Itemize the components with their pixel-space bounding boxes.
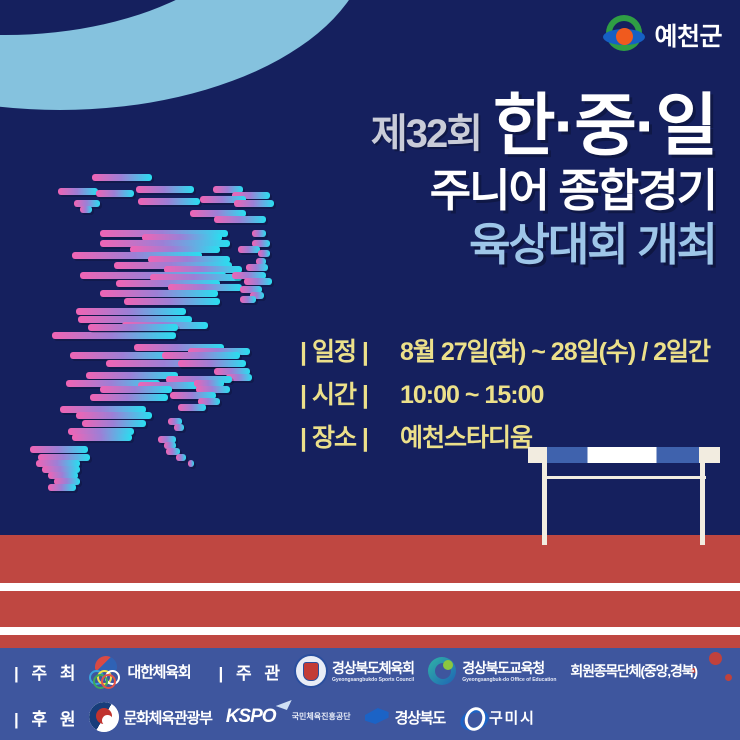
header-logo: 예천군 [603, 14, 722, 56]
title-block: 제32회 한·중·일 주니어 종합경기 육상대회 개최 [371, 92, 716, 271]
gyeongbuk-sports-council-shield-icon [294, 654, 328, 688]
footer-label-korean-sport-olympic-committee: 대한체육회 [127, 661, 190, 682]
korean-sport-olympic-committee-logo-icon [89, 656, 123, 686]
footer-label-ministry-culture-sports-tourism: 문화체육관광부 [123, 707, 211, 728]
footer-label-member-associations: 회원종목단체(중앙,경북) [570, 661, 696, 681]
running-athlete-silhouette-icon [28, 168, 308, 538]
gumi-city-logo-icon [459, 706, 485, 728]
runner-stripe [88, 324, 178, 331]
runner-stripe [100, 290, 218, 297]
runner-stripe [80, 206, 92, 213]
runner-stripe [258, 250, 270, 257]
gyeongbuk-office-of-education-logo-icon [428, 657, 458, 685]
korea-government-taeguk-emblem-icon [89, 702, 119, 732]
footer-label-gyeongbuk-sports-council: 경상북도체육회 [332, 660, 414, 676]
footer-label-member-associations-wrap: 회원종목단체(중앙,경북) [570, 661, 696, 681]
runner-stripe [246, 264, 268, 271]
header-org-name: 예천군 [654, 17, 722, 53]
kspo-logo-icon: KSPO [226, 706, 288, 728]
runner-stripe [214, 216, 266, 223]
track-band-red-2 [0, 591, 740, 627]
runner-stripe [252, 230, 266, 237]
event-poster: 예천군 제32회 한·중·일 주니어 종합경기 육상대회 개최 | 일정 | 8… [0, 0, 740, 740]
runner-stripe [100, 386, 172, 393]
footer-tag-sponsor: | 후 원 [14, 705, 79, 730]
detail-value-venue: 예천스타디움 [400, 418, 532, 454]
runner-stripe [238, 246, 260, 253]
footer-logo-gumi-city: 구 미 시 [459, 706, 533, 728]
detail-value-schedule: 8월 27일(화) ~ 28일(수) / 2일간 [400, 332, 710, 368]
title-event-line: 육상대회 개최 [371, 220, 716, 270]
footer-logo-ministry-culture-sports-tourism: 문화체육관광부 [89, 702, 211, 732]
title-ordinal: 제32회 [371, 114, 481, 160]
runner-stripe [76, 412, 152, 419]
detail-row-schedule: | 일정 | 8월 27일(화) ~ 28일(수) / 2일간 [300, 332, 710, 368]
track-lane-line-2 [0, 627, 740, 635]
sponsor-footer: | 주 최 대한체육회 | 주 관 경상북도체육회 Gyeongsangbukd… [0, 648, 740, 740]
footer-sublabel-kspo: 국민체육진흥공단 [292, 713, 351, 722]
runner-stripe [124, 298, 220, 305]
runner-stripe [162, 352, 240, 359]
footer-sublabel-gyeongbuk-sports-council: Gyeongsangbukdo Sports Council [332, 678, 414, 684]
runner-stripe [174, 424, 184, 431]
detail-label-time: | 시간 | [300, 375, 396, 411]
track-band-red-3 [0, 635, 740, 648]
gyeongsangbukdo-wave-logo-icon [365, 706, 391, 728]
runner-stripe [244, 278, 272, 285]
detail-value-time: 10:00 ~ 15:00 [400, 381, 543, 410]
event-details: | 일정 | 8월 27일(화) ~ 28일(수) / 2일간 | 시간 | 1… [300, 332, 710, 461]
footer-label-gyeongbuk-office-of-education: 경상북도교육청 [462, 660, 544, 676]
runner-stripe [176, 454, 186, 461]
detail-label-venue: | 장소 | [300, 418, 396, 454]
footer-logo-gyeongbuk-office-of-education: 경상북도교육청 Gyeongsangbuk-do Office of Educa… [428, 657, 556, 685]
track-hurdle-icon [528, 447, 720, 547]
footer-logo-kspo: KSPO 국민체육진흥공단 [226, 706, 351, 728]
footer-logo-gyeongsangbukdo: 경상북도 [365, 706, 445, 728]
title-main: 한·중·일 [493, 92, 716, 160]
footer-row-host-organizer: | 주 최 대한체육회 | 주 관 경상북도체육회 Gyeongsangbukd… [0, 648, 740, 694]
runner-stripe [138, 198, 200, 205]
runner-stripe [52, 332, 176, 339]
runner-stripe [58, 188, 98, 195]
runner-stripe [30, 446, 88, 453]
footer-row-sponsor: | 후 원 문화체육관광부 KSPO 국민체육진흥공단 경상북도 [0, 694, 740, 740]
runner-stripe [76, 308, 186, 315]
runner-stripe [48, 484, 76, 491]
runner-stripe [90, 394, 168, 401]
runner-stripe [136, 186, 194, 193]
detail-label-schedule: | 일정 | [300, 332, 396, 368]
footer-label-gyeongsangbukdo: 경상북도 [395, 707, 445, 728]
track-lane-line-1 [0, 583, 740, 591]
footer-tag-host: | 주 최 [14, 659, 79, 684]
footer-logo-korean-sport-olympic-committee: 대한체육회 [89, 656, 190, 686]
runner-stripe [92, 174, 152, 181]
runner-stripe [240, 296, 256, 303]
runner-stripe [96, 190, 134, 197]
detail-row-time: | 시간 | 10:00 ~ 15:00 [300, 375, 710, 411]
runner-stripe [72, 434, 132, 441]
runner-stripe [82, 420, 146, 427]
footer-tag-organizer: | 주 관 [219, 659, 284, 684]
runner-stripe [234, 200, 274, 207]
footer-sublabel-gyeongbuk-office-of-education: Gyeongsangbuk-do Office of Education [462, 678, 556, 684]
footer-label-gumi-city: 구 미 시 [489, 707, 533, 728]
runner-stripe [86, 372, 178, 379]
runner-stripe [178, 404, 206, 411]
runner-stripe [178, 360, 246, 367]
footer-label-kspo: KSPO [226, 706, 276, 727]
footer-logo-gyeongbuk-sports-council: 경상북도체육회 Gyeongsangbukdo Sports Council [294, 654, 414, 688]
title-subtitle: 주니어 종합경기 [371, 166, 716, 216]
yecheon-county-emblem-icon [603, 14, 645, 56]
runner-stripe [188, 460, 194, 467]
